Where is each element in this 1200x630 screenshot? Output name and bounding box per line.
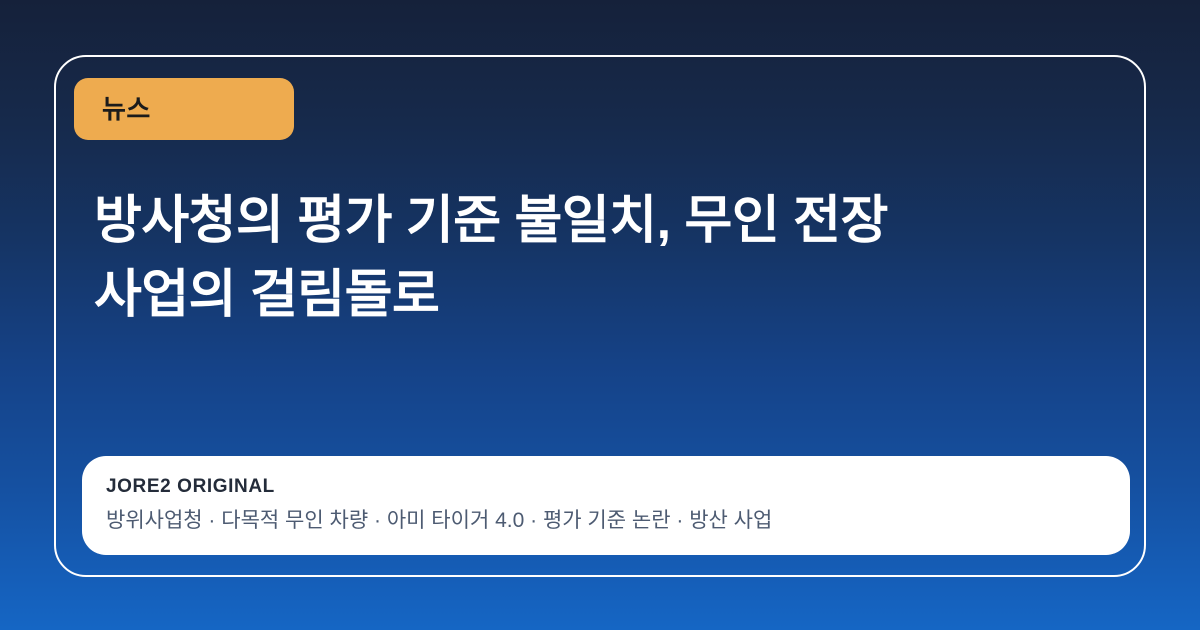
category-badge: 뉴스: [74, 78, 294, 140]
brand-label: JORE2 ORIGINAL: [106, 474, 1106, 500]
og-content-card: 뉴스 방사청의 평가 기준 불일치, 무인 전장 사업의 걸림돌로 JORE2 …: [54, 55, 1146, 577]
footer-meta-card: JORE2 ORIGINAL 방위사업청 · 다목적 무인 차량 · 아미 타이…: [82, 456, 1130, 555]
tag-list: 방위사업청 · 다목적 무인 차량 · 아미 타이거 4.0 · 평가 기준 논…: [106, 507, 1106, 535]
category-badge-label: 뉴스: [102, 96, 151, 122]
headline-title: 방사청의 평가 기준 불일치, 무인 전장 사업의 걸림돌로: [94, 185, 994, 333]
